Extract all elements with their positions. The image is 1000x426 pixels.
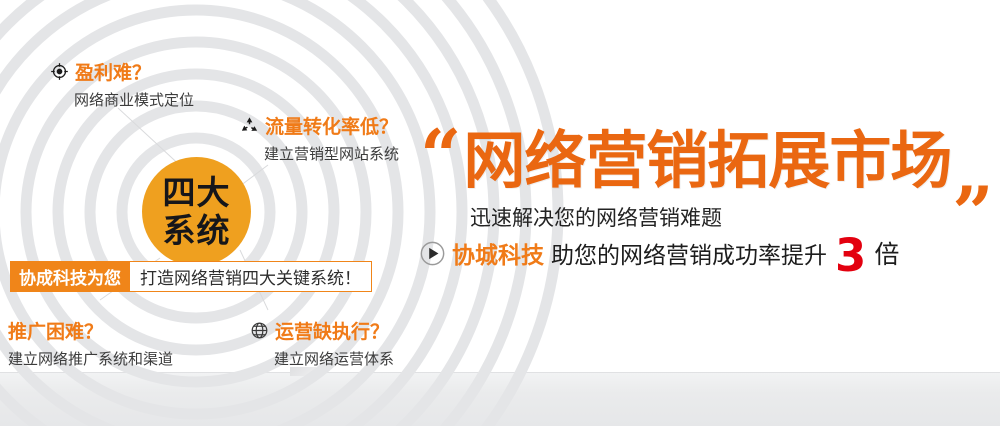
promo-brand: 协城科技 (452, 236, 544, 270)
problem-subtitle: 网络商业模式定位 (74, 89, 194, 110)
marketing-banner: 四大 系统 盈利难？ 网络商业模式定位 (0, 0, 1000, 426)
center-badge: 四大 系统 (142, 157, 251, 266)
problem-title: 盈利难？ (75, 58, 151, 85)
promo-headline-row: “ 网络营销拓展市场 „ (420, 130, 1000, 192)
problem-item-promotion: 推广困难？ 建立网络推广系统和渠道 (8, 317, 173, 369)
promo-headline: 网络营销拓展市场 (463, 130, 951, 192)
callout-bar: 协成科技为您 打造网络营销四大关键系统！ (10, 261, 372, 292)
problem-item-conversion: 流量转化率低？ 建立营销型网站系统 (240, 112, 399, 164)
problem-subtitle: 建立营销型网站系统 (264, 143, 399, 164)
callout-tag: 协成科技为您 (10, 261, 130, 292)
promo-line2: 助您的网络营销成功率提升 (551, 236, 827, 270)
problem-item-profit: 盈利难？ 网络商业模式定位 (50, 58, 194, 110)
promo-line2-row: 协城科技 助您的网络营销成功率提升 3 倍 (420, 235, 1000, 271)
target-icon (50, 62, 69, 81)
promo-line1: 迅速解决您的网络营销难题 (470, 202, 1000, 232)
problem-title-row: 流量转化率低？ (240, 112, 399, 139)
problem-title: 流量转化率低？ (265, 112, 398, 139)
problem-subtitle: 建立网络运营体系 (274, 348, 394, 369)
problem-item-operations: 运营缺执行？ 建立网络运营体系 (250, 317, 394, 369)
center-badge-line2: 系统 (163, 214, 231, 247)
recycle-icon (240, 116, 259, 135)
promo-multiplier: 3 (835, 238, 866, 274)
bottom-shadow-band (0, 372, 1000, 426)
globe-icon (250, 321, 269, 340)
problem-title-row: 推广困难？ (8, 317, 173, 344)
quote-close-icon: „ (953, 146, 994, 198)
problem-title: 推广困难？ (8, 317, 103, 344)
problem-title-row: 盈利难？ (50, 58, 194, 85)
quote-open-icon: “ (420, 130, 461, 182)
problem-title-row: 运营缺执行？ (250, 317, 394, 344)
problem-subtitle: 建立网络推广系统和渠道 (8, 348, 173, 369)
promo-block: “ 网络营销拓展市场 „ 迅速解决您的网络营销难题 协城科技 助您的网络营销成功… (420, 130, 1000, 271)
center-badge-line1: 四大 (163, 176, 231, 209)
play-circle-icon (420, 241, 445, 266)
callout-message: 打造网络营销四大关键系统！ (130, 261, 372, 292)
problem-title: 运营缺执行？ (275, 317, 389, 344)
promo-unit: 倍 (874, 235, 899, 271)
